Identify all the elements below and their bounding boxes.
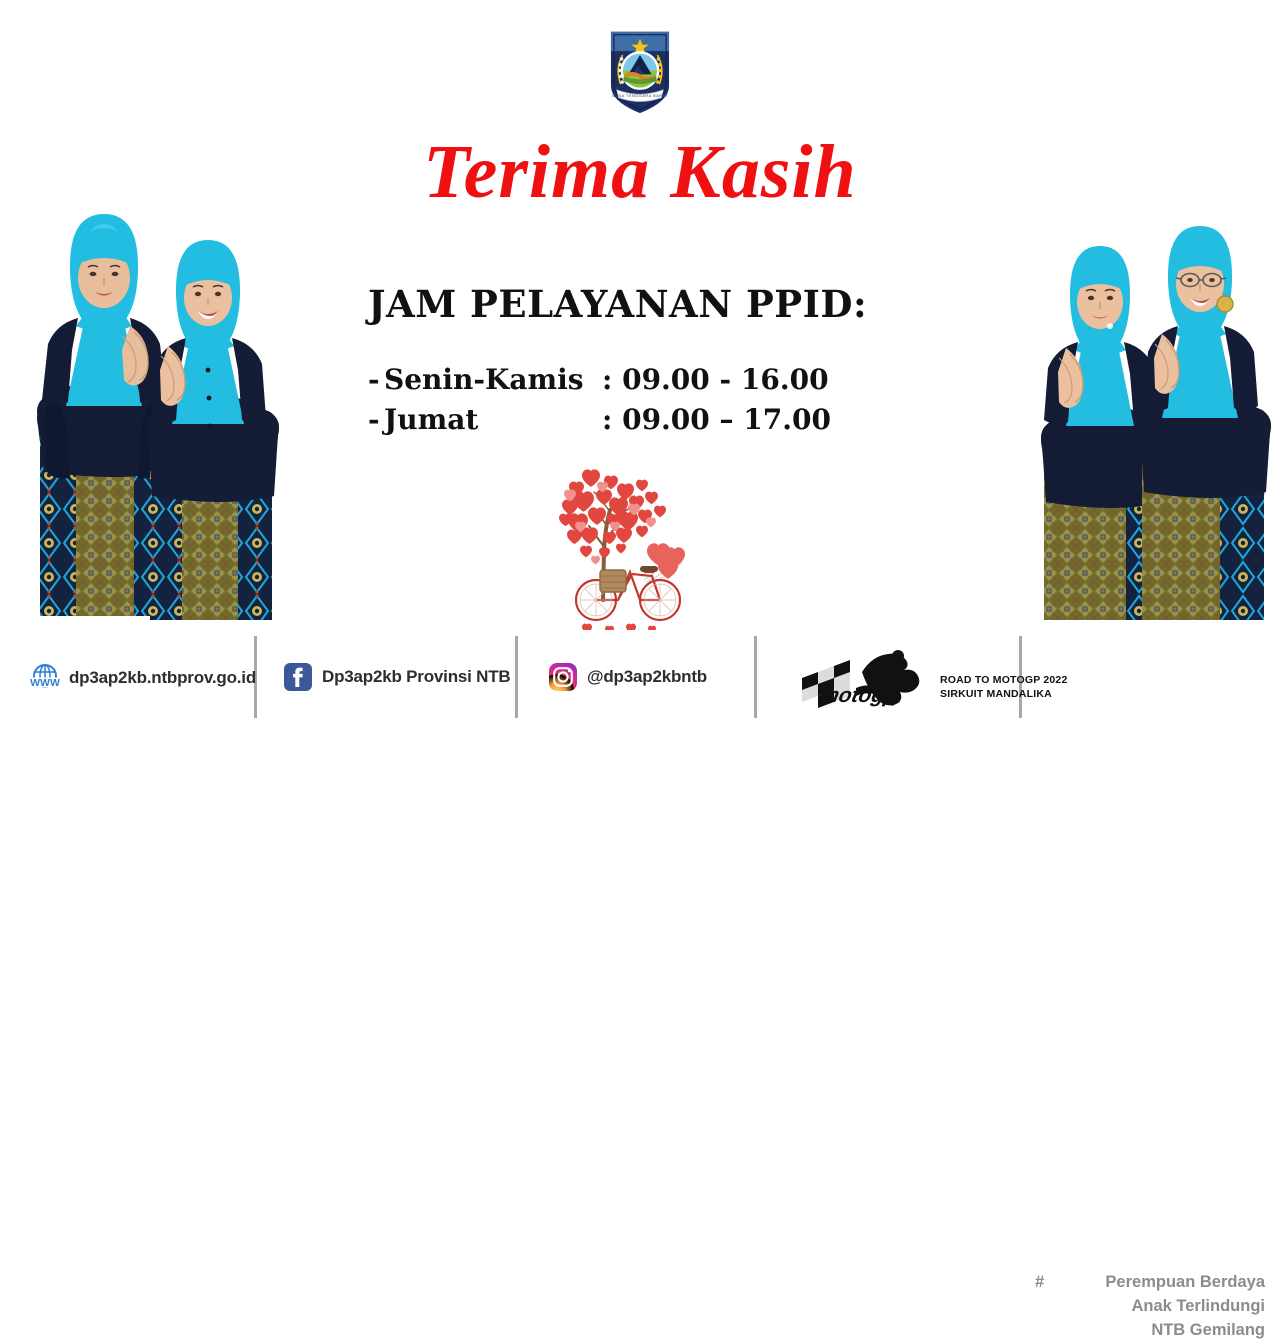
hour-row-dash: - xyxy=(368,360,384,400)
hour-row-time: : 09.00 - 16.00 xyxy=(602,360,829,400)
motogp-tagline: ROAD TO MOTOGP 2022 SIRKUIT MANDALIKA xyxy=(940,657,1068,701)
hashtag-symbol: # xyxy=(1035,1271,1044,1295)
poster-canvas: NUSA TENGGARA BARAT Terima Kasih JAM PEL… xyxy=(0,0,1280,720)
ntb-provincial-emblem: NUSA TENGGARA BARAT xyxy=(570,26,710,118)
svg-text:motogp: motogp xyxy=(818,684,900,707)
slogan-line3: NTB Gemilang xyxy=(1035,1319,1265,1343)
slogan-line2: Anak Terlindungi xyxy=(1035,1295,1265,1319)
hour-row-dash: - xyxy=(368,400,384,440)
footer-facebook-item[interactable]: Dp3ap2kb Provinsi NTB xyxy=(283,662,511,692)
heart-tree-decoration xyxy=(548,452,728,630)
photo-women-right xyxy=(1022,186,1278,636)
motogp-tagline-line2: SIRKUIT MANDALIKA xyxy=(940,687,1068,701)
ntb-provincial-emblem-shield-icon: NUSA TENGGARA BARAT xyxy=(570,26,710,118)
photo-women-left xyxy=(10,186,288,636)
hour-row-time: : 09.00 – 17.00 xyxy=(602,400,831,440)
footer-motogp-item: motogp ROAD TO MOTOGP 2022 SIRKUIT MANDA… xyxy=(800,650,1068,708)
footer-facebook-label: Dp3ap2kb Provinsi NTB xyxy=(322,667,511,687)
footer-website-label: dp3ap2kb.ntbprov.go.id xyxy=(69,668,256,688)
motogp-logo-icon: motogp xyxy=(800,650,932,708)
service-hours-row: - Senin-Kamis : 09.00 - 16.00 xyxy=(368,360,928,400)
hour-row-day: Senin-Kamis xyxy=(384,360,602,400)
service-hours-row: - Jumat : 09.00 – 17.00 xyxy=(368,400,928,440)
slogan-line1: Perempuan Berdaya xyxy=(1035,1271,1265,1295)
facebook-icon xyxy=(283,662,313,692)
heart-tree-bicycle-illustration-icon xyxy=(548,452,728,630)
photo-two-women-greeting-icon xyxy=(1022,186,1278,636)
svg-text:WWW: WWW xyxy=(30,677,60,689)
footer-instagram-label: @dp3ap2kbntb xyxy=(587,667,707,687)
footer-website-item[interactable]: WWW dp3ap2kb.ntbprov.go.id xyxy=(30,663,256,693)
hour-row-day: Jumat xyxy=(384,400,602,440)
footer-slogan: # Perempuan Berdaya Anak Terlindungi NTB… xyxy=(1035,1271,1265,1343)
footer-divider xyxy=(754,636,757,718)
footer-divider xyxy=(515,636,518,718)
instagram-icon xyxy=(548,662,578,692)
svg-text:NUSA TENGGARA BARAT: NUSA TENGGARA BARAT xyxy=(612,93,668,98)
service-hours-headline: JAM PELAYANAN PPID: xyxy=(368,282,928,326)
footer-bar: WWW dp3ap2kb.ntbprov.go.id Dp3ap2kb Prov… xyxy=(0,630,1280,720)
motogp-tagline-line1: ROAD TO MOTOGP 2022 xyxy=(940,673,1068,687)
service-hours-block: JAM PELAYANAN PPID: - Senin-Kamis : 09.0… xyxy=(368,282,928,440)
photo-two-women-greeting-icon xyxy=(10,186,288,636)
footer-instagram-item[interactable]: @dp3ap2kbntb xyxy=(548,662,707,692)
www-globe-icon: WWW xyxy=(30,663,60,693)
